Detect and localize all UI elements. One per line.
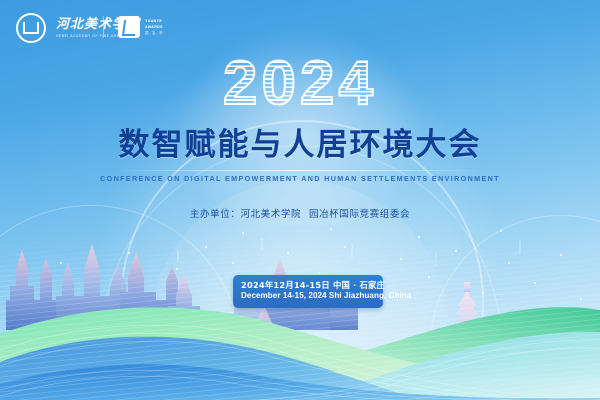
page-title: 数智赋能与人居环境大会 — [0, 128, 600, 164]
organizer-name-2: 园冶杯国际竞赛组委会 — [309, 209, 410, 220]
event-date-badge: 2024年12月14-15日 中国 · 石家庄 December 14-15, … — [233, 275, 383, 308]
logo-divider — [103, 16, 104, 38]
pagoda — [456, 282, 478, 352]
poster-header: 河北美术学院 HEBEI ACADEMY OF FINE ARTS YUANYE… — [0, 0, 600, 56]
logo-yuanye-cn: 园 冶 杯 — [145, 30, 164, 35]
page-subtitle: CONFERENCE ON DIGITAL EMPOWERMENT AND HU… — [0, 174, 600, 183]
cone-peak — [243, 305, 285, 352]
background-ring-left — [0, 205, 242, 400]
organizer-name-1: 河北美术学院 — [240, 209, 301, 220]
logo-yuanye-en1: YUANYE — [145, 19, 164, 23]
organizer-label: 主办单位： — [190, 209, 241, 220]
hill-green-back — [240, 307, 600, 378]
event-date-en: December 14-15, 2024 Shi Jiazhuang, Chin… — [241, 291, 375, 302]
organizer-line: 主办单位：河北美术学院园冶杯国际竞赛组委会 — [0, 206, 600, 220]
academy-seal-icon — [16, 13, 46, 43]
yuanye-award-icon — [118, 16, 140, 38]
castle-skyline — [6, 244, 200, 330]
year-headline: 2024 — [0, 53, 600, 115]
hill-blue-mid — [0, 337, 420, 400]
chinese-pavilion — [494, 319, 592, 363]
hill-blue-front — [0, 364, 600, 400]
title-divider-rule — [115, 170, 485, 171]
conference-poster: 河北美术学院 HEBEI ACADEMY OF FINE ARTS YUANYE… — [0, 0, 600, 400]
logo-yuanye-award: YUANYE AWARDS 园 冶 杯 — [118, 16, 164, 38]
event-date-cn: 2024年12月14-15日 中国 · 石家庄 — [241, 280, 375, 291]
logo-yuanye-en2: AWARDS — [145, 25, 164, 29]
hill-contour-lines — [0, 325, 600, 400]
hill-cyan — [180, 332, 600, 400]
hill-green-main — [0, 307, 600, 400]
background-ring-right — [430, 215, 600, 400]
